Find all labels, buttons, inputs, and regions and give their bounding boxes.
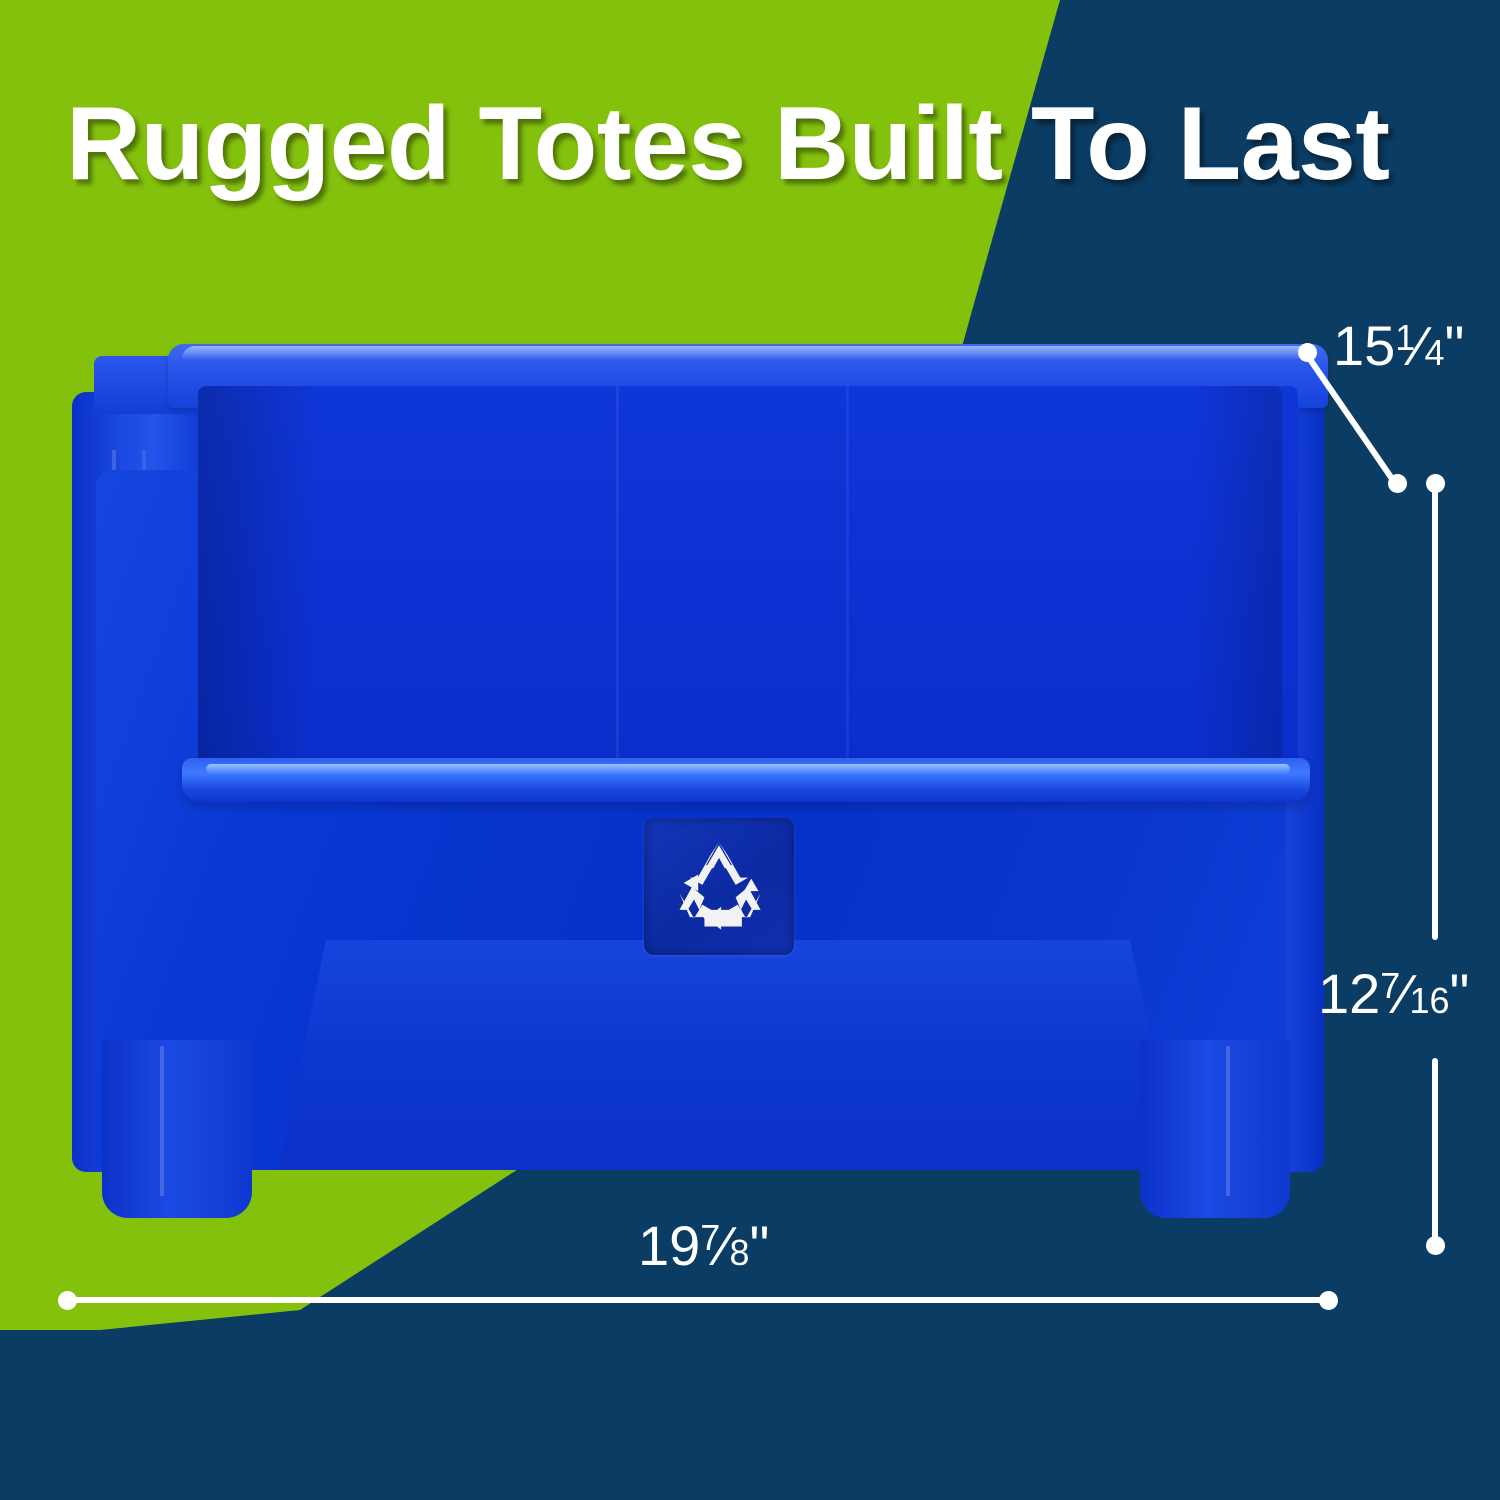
height-whole: 12: [1318, 962, 1380, 1025]
width-dimension-dot-right: [1319, 1291, 1338, 1310]
recycle-badge: [644, 818, 794, 955]
tote-interior-seam-2: [846, 386, 849, 776]
tote-body: [56, 340, 1330, 1170]
tote-leg-right: [1140, 1040, 1290, 1218]
width-fraction-slash: ⁄: [720, 1215, 729, 1277]
width-fraction: 7⁄8: [700, 1212, 749, 1279]
height-fraction: 7⁄16: [1380, 960, 1449, 1027]
width-numerator: 7: [700, 1217, 720, 1258]
width-whole: 19: [638, 1214, 700, 1277]
depth-fraction: 1⁄4: [1395, 312, 1444, 379]
height-dimension-dot-bottom: [1426, 1236, 1445, 1255]
height-fraction-slash: ⁄: [1400, 963, 1409, 1025]
width-dimension-line: [66, 1297, 1328, 1303]
product-marketing-image: Rugged Totes Built To Last: [0, 0, 1500, 1500]
tote-interior-shadow-right: [1192, 386, 1282, 786]
product-image-tote: [48, 340, 1338, 1220]
tote-interior-cavity: [198, 386, 1298, 786]
tote-leg-left-rib: [160, 1046, 164, 1196]
tote-front-lip-highlight: [206, 764, 1290, 774]
width-denominator: 8: [730, 1232, 750, 1273]
tote-rim-highlight: [182, 346, 1314, 359]
tote-interior-seam-1: [616, 386, 619, 776]
height-dimension-line-bottom: [1432, 1058, 1438, 1250]
height-numerator: 7: [1380, 965, 1400, 1006]
tote-interior-shadow-left: [198, 386, 318, 786]
depth-denominator: 4: [1425, 332, 1445, 373]
depth-unit: ": [1445, 314, 1465, 377]
tote-leg-right-rib: [1226, 1046, 1230, 1196]
height-unit: ": [1450, 962, 1470, 1025]
depth-dimension-dot-end: [1388, 474, 1407, 493]
width-unit: ": [750, 1214, 770, 1277]
depth-dimension-label: 151⁄4": [1333, 312, 1464, 379]
height-denominator: 16: [1410, 980, 1450, 1021]
tote-base-recess-panel: [278, 940, 1178, 1170]
page-title: Rugged Totes Built To Last: [66, 92, 1466, 196]
depth-whole: 15: [1333, 314, 1395, 377]
width-dimension-label: 197⁄8": [638, 1212, 769, 1279]
height-dimension-label: 127⁄16": [1318, 960, 1469, 1027]
height-dimension-line-top: [1432, 490, 1438, 940]
tote-leg-left: [102, 1040, 252, 1218]
recycle-icon: [665, 835, 773, 939]
depth-fraction-slash: ⁄: [1415, 315, 1424, 377]
depth-numerator: 1: [1395, 317, 1415, 358]
